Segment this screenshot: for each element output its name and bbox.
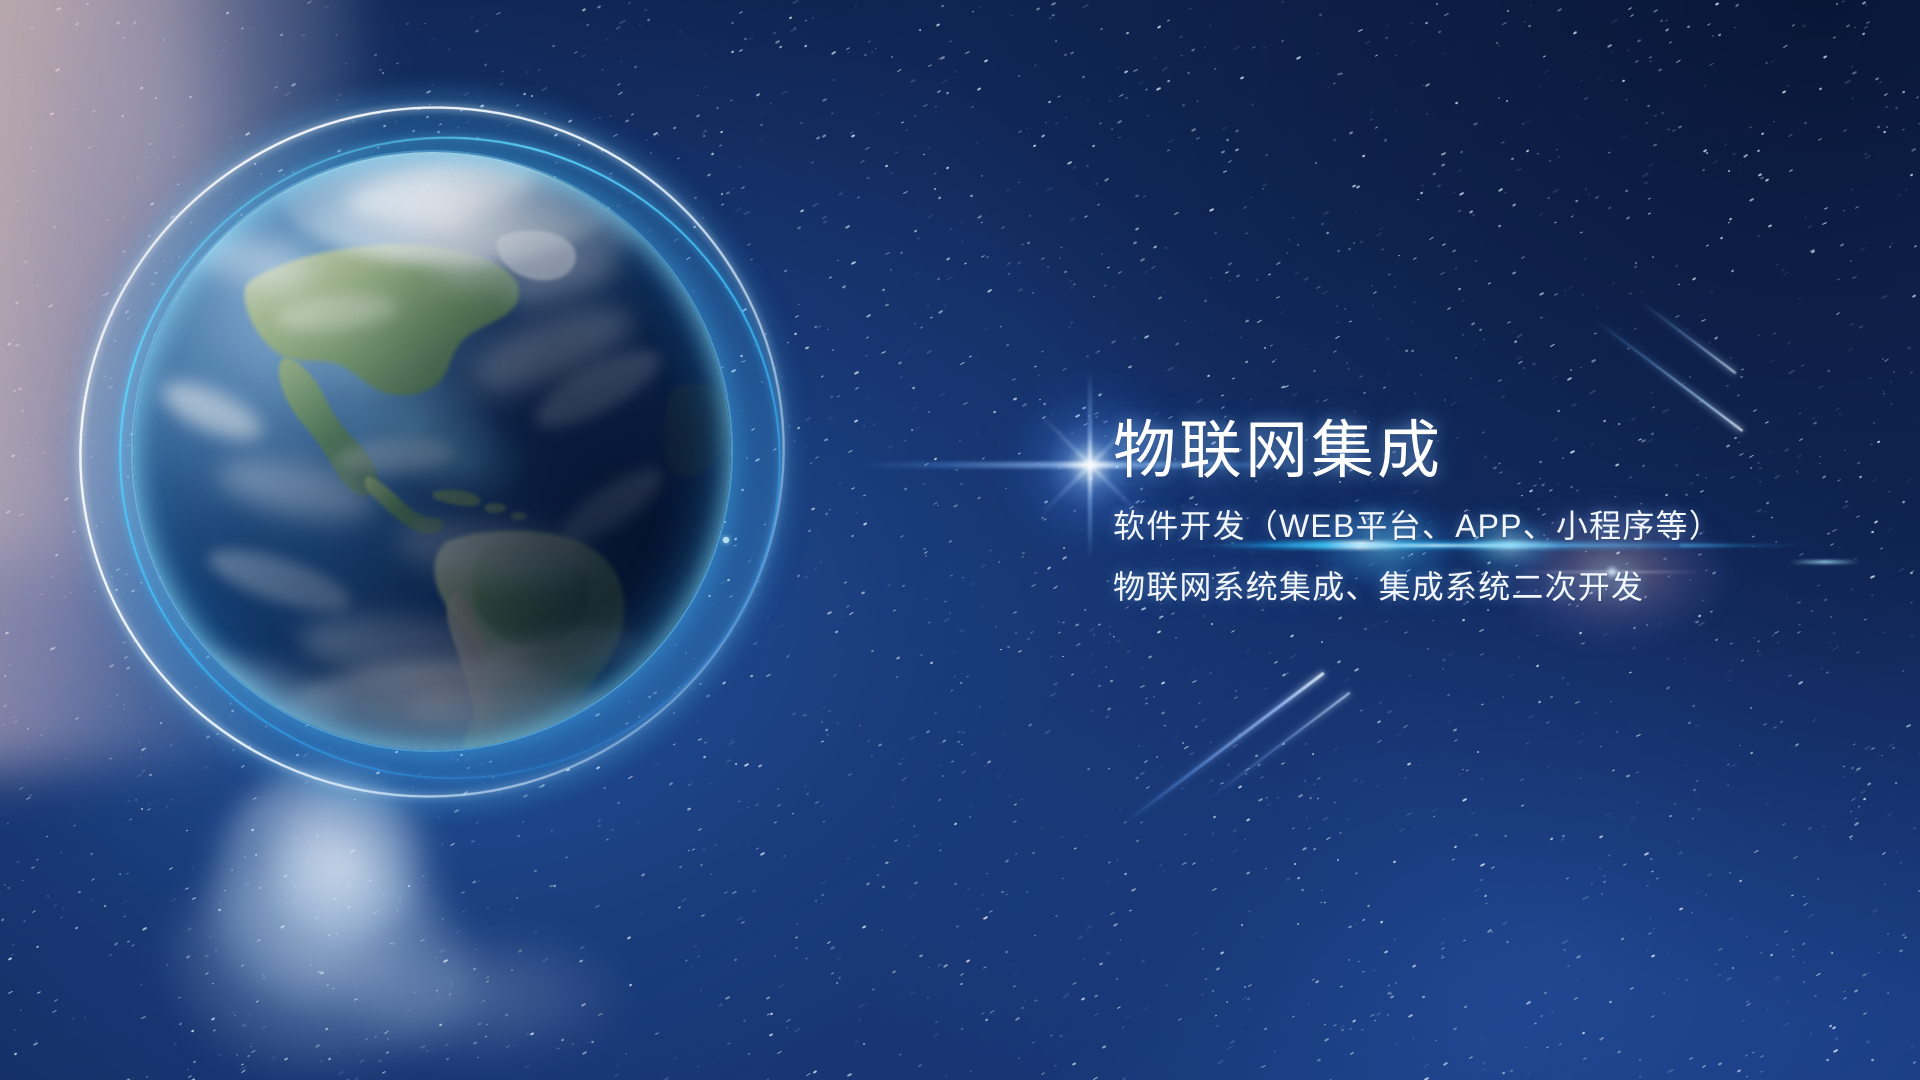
page-title: 物联网集成 <box>1113 420 1873 483</box>
cloud-plume-icon <box>150 770 580 1080</box>
banner-text-block: 物联网集成 软件开发（WEB平台、APP、小程序等） 物联网系统集成、集成系统二… <box>1113 420 1873 603</box>
subtitle-line-2: 物联网系统集成、集成系统二次开发 <box>1113 571 1873 603</box>
subtitle-line-1: 软件开发（WEB平台、APP、小程序等） <box>1113 510 1873 542</box>
iot-integration-banner: 物联网集成 软件开发（WEB平台、APP、小程序等） 物联网系统集成、集成系统二… <box>0 0 1920 1080</box>
earth-globe-icon <box>133 152 731 750</box>
